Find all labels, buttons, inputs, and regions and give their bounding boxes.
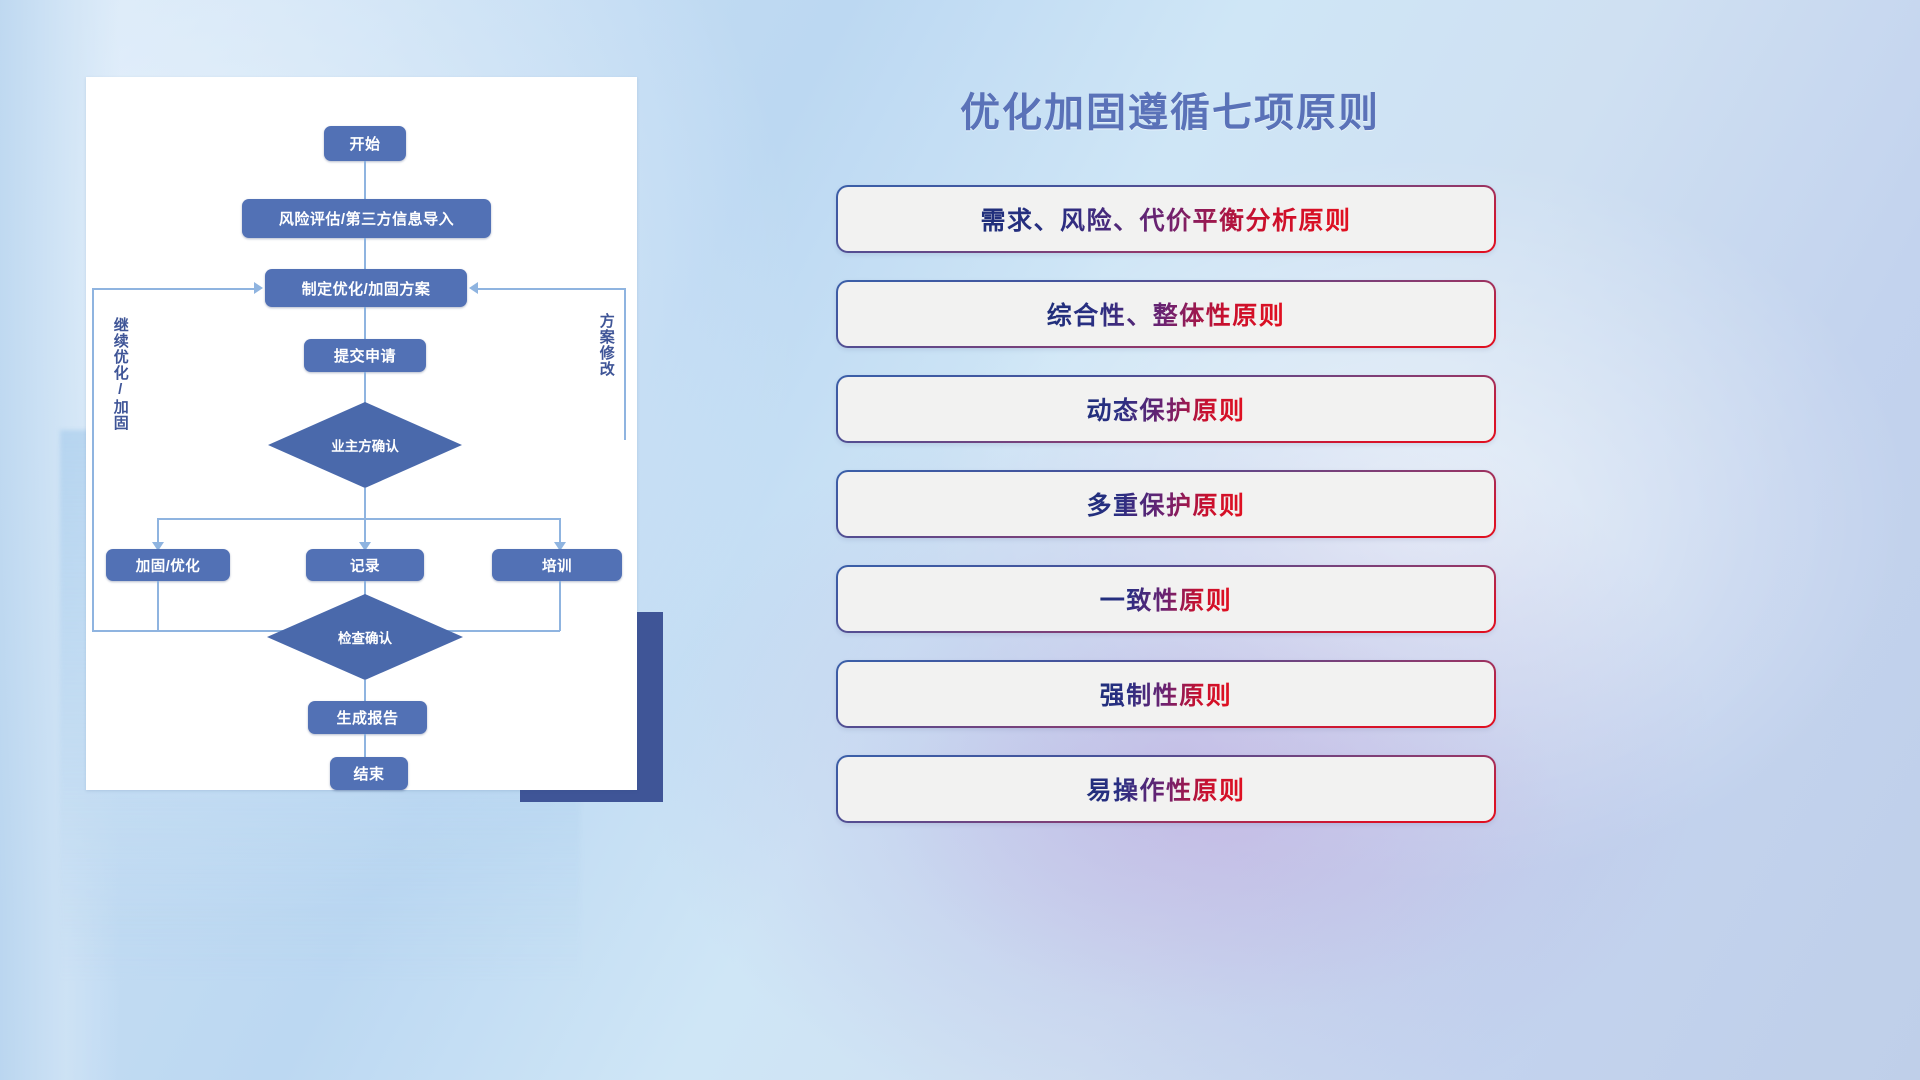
arrow-left-loop-into-plan <box>254 282 263 294</box>
connector-owner-branch-bus <box>157 518 560 520</box>
principle-label: 需求、风险、代价平衡分析原则 <box>980 201 1351 237</box>
flow-node-reinforce[interactable]: 加固/优化 <box>106 549 230 581</box>
connector-right-loop-top <box>478 288 626 290</box>
principle-item-5[interactable]: 一致性原则 <box>836 565 1496 633</box>
principles-panel: 优化加固遵循七项原则 需求、风险、代价平衡分析原则 综合性、整体性原则 动态保护… <box>820 60 1520 960</box>
flow-node-plan[interactable]: 制定优化/加固方案 <box>265 269 467 307</box>
principle-label: 易操作性原则 <box>1086 771 1245 807</box>
flowchart-card: 开始 风险评估/第三方信息导入 制定优化/加固方案 继续优化/加固 方案修改 提… <box>86 77 637 790</box>
flow-node-record[interactable]: 记录 <box>306 549 424 581</box>
flow-node-training[interactable]: 培训 <box>492 549 622 581</box>
connector-left-loop-vertical <box>92 288 94 631</box>
flow-label-continue-optimize: 继续优化/加固 <box>112 317 128 447</box>
connector-owner-down <box>364 488 366 518</box>
flow-node-risk-assessment[interactable]: 风险评估/第三方信息导入 <box>242 199 491 238</box>
connector-reinforce-to-left-loop <box>92 630 158 632</box>
principle-label: 动态保护原则 <box>1086 391 1245 427</box>
principles-list: 需求、风险、代价平衡分析原则 综合性、整体性原则 动态保护原则 多重保护原则 一… <box>836 185 1496 850</box>
principle-item-6[interactable]: 强制性原则 <box>836 660 1496 728</box>
principle-item-3[interactable]: 动态保护原则 <box>836 375 1496 443</box>
connector-right-loop-vertical <box>624 288 626 440</box>
principle-item-2[interactable]: 综合性、整体性原则 <box>836 280 1496 348</box>
flow-node-start[interactable]: 开始 <box>324 126 406 161</box>
connector-left-loop-top <box>92 288 254 290</box>
connector-training-down <box>559 581 561 631</box>
flow-label-plan-revision: 方案修改 <box>598 313 614 419</box>
principle-label: 多重保护原则 <box>1086 486 1245 522</box>
connector-reinforce-down <box>157 581 159 631</box>
flow-node-end[interactable]: 结束 <box>330 757 408 790</box>
principle-label: 综合性、整体性原则 <box>1047 296 1286 332</box>
flow-decision-check-confirm[interactable]: 检查确认 <box>267 594 463 680</box>
flow-node-submit[interactable]: 提交申请 <box>304 339 426 372</box>
principle-item-1[interactable]: 需求、风险、代价平衡分析原则 <box>836 185 1496 253</box>
principle-item-7[interactable]: 易操作性原则 <box>836 755 1496 823</box>
flow-node-report[interactable]: 生成报告 <box>308 701 427 734</box>
principle-label: 一致性原则 <box>1100 581 1233 617</box>
principle-item-4[interactable]: 多重保护原则 <box>836 470 1496 538</box>
arrow-right-loop-into-plan <box>469 282 478 294</box>
principle-label: 强制性原则 <box>1100 676 1233 712</box>
flow-decision-owner-confirm[interactable]: 业主方确认 <box>268 402 462 488</box>
panel-title: 优化加固遵循七项原则 <box>820 80 1520 138</box>
slide-canvas: 开始 风险评估/第三方信息导入 制定优化/加固方案 继续优化/加固 方案修改 提… <box>0 0 1920 1080</box>
